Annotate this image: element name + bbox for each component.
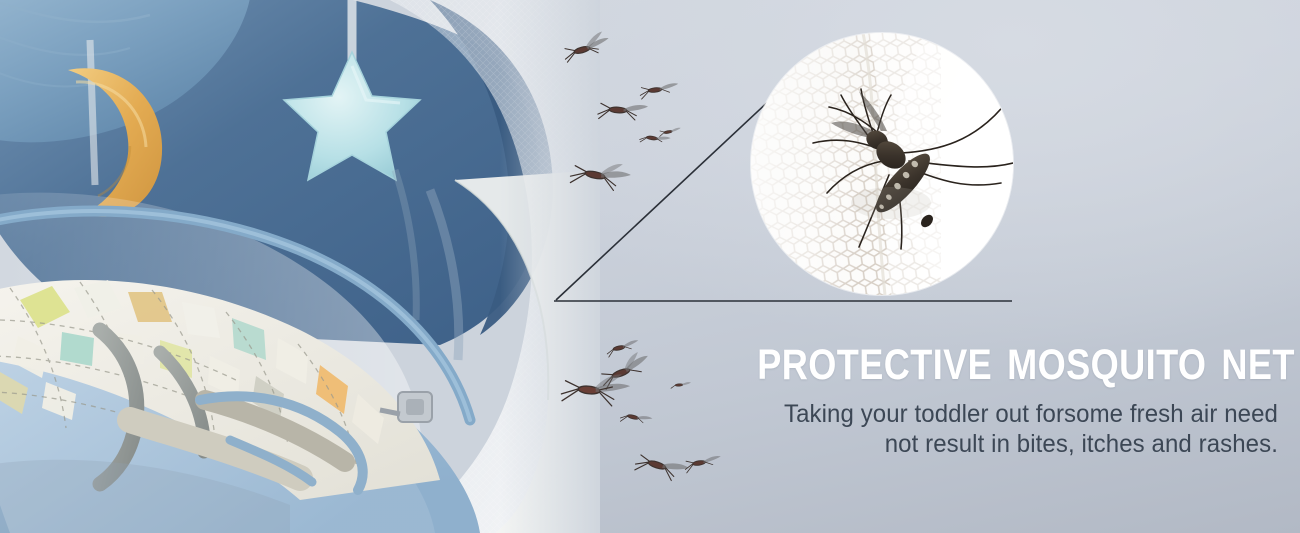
promo-banner: Protective Mosquito Net Taking your todd… (0, 0, 1300, 533)
mosquito (639, 133, 670, 146)
banner-subtitle: Taking your toddler out forsome fresh ai… (683, 399, 1278, 460)
mosquito (659, 127, 682, 136)
subtitle-line-1: Taking your toddler out forsome fresh ai… (683, 399, 1278, 430)
mosquito (639, 83, 679, 99)
mosquito (606, 340, 641, 358)
subtitle-line-2: not result in bites, itches and rashes. (683, 429, 1278, 460)
harness-buckle (398, 392, 432, 422)
banner-text-block: Protective Mosquito Net Taking your todd… (658, 330, 1278, 460)
mosquito (597, 349, 654, 389)
page-title: Protective Mosquito Net (757, 330, 1278, 389)
product-photo-baby-bouncer (0, 0, 600, 533)
magnified-mosquito-inset (751, 33, 1013, 295)
mosquito (620, 410, 653, 428)
mosquito (598, 102, 649, 122)
